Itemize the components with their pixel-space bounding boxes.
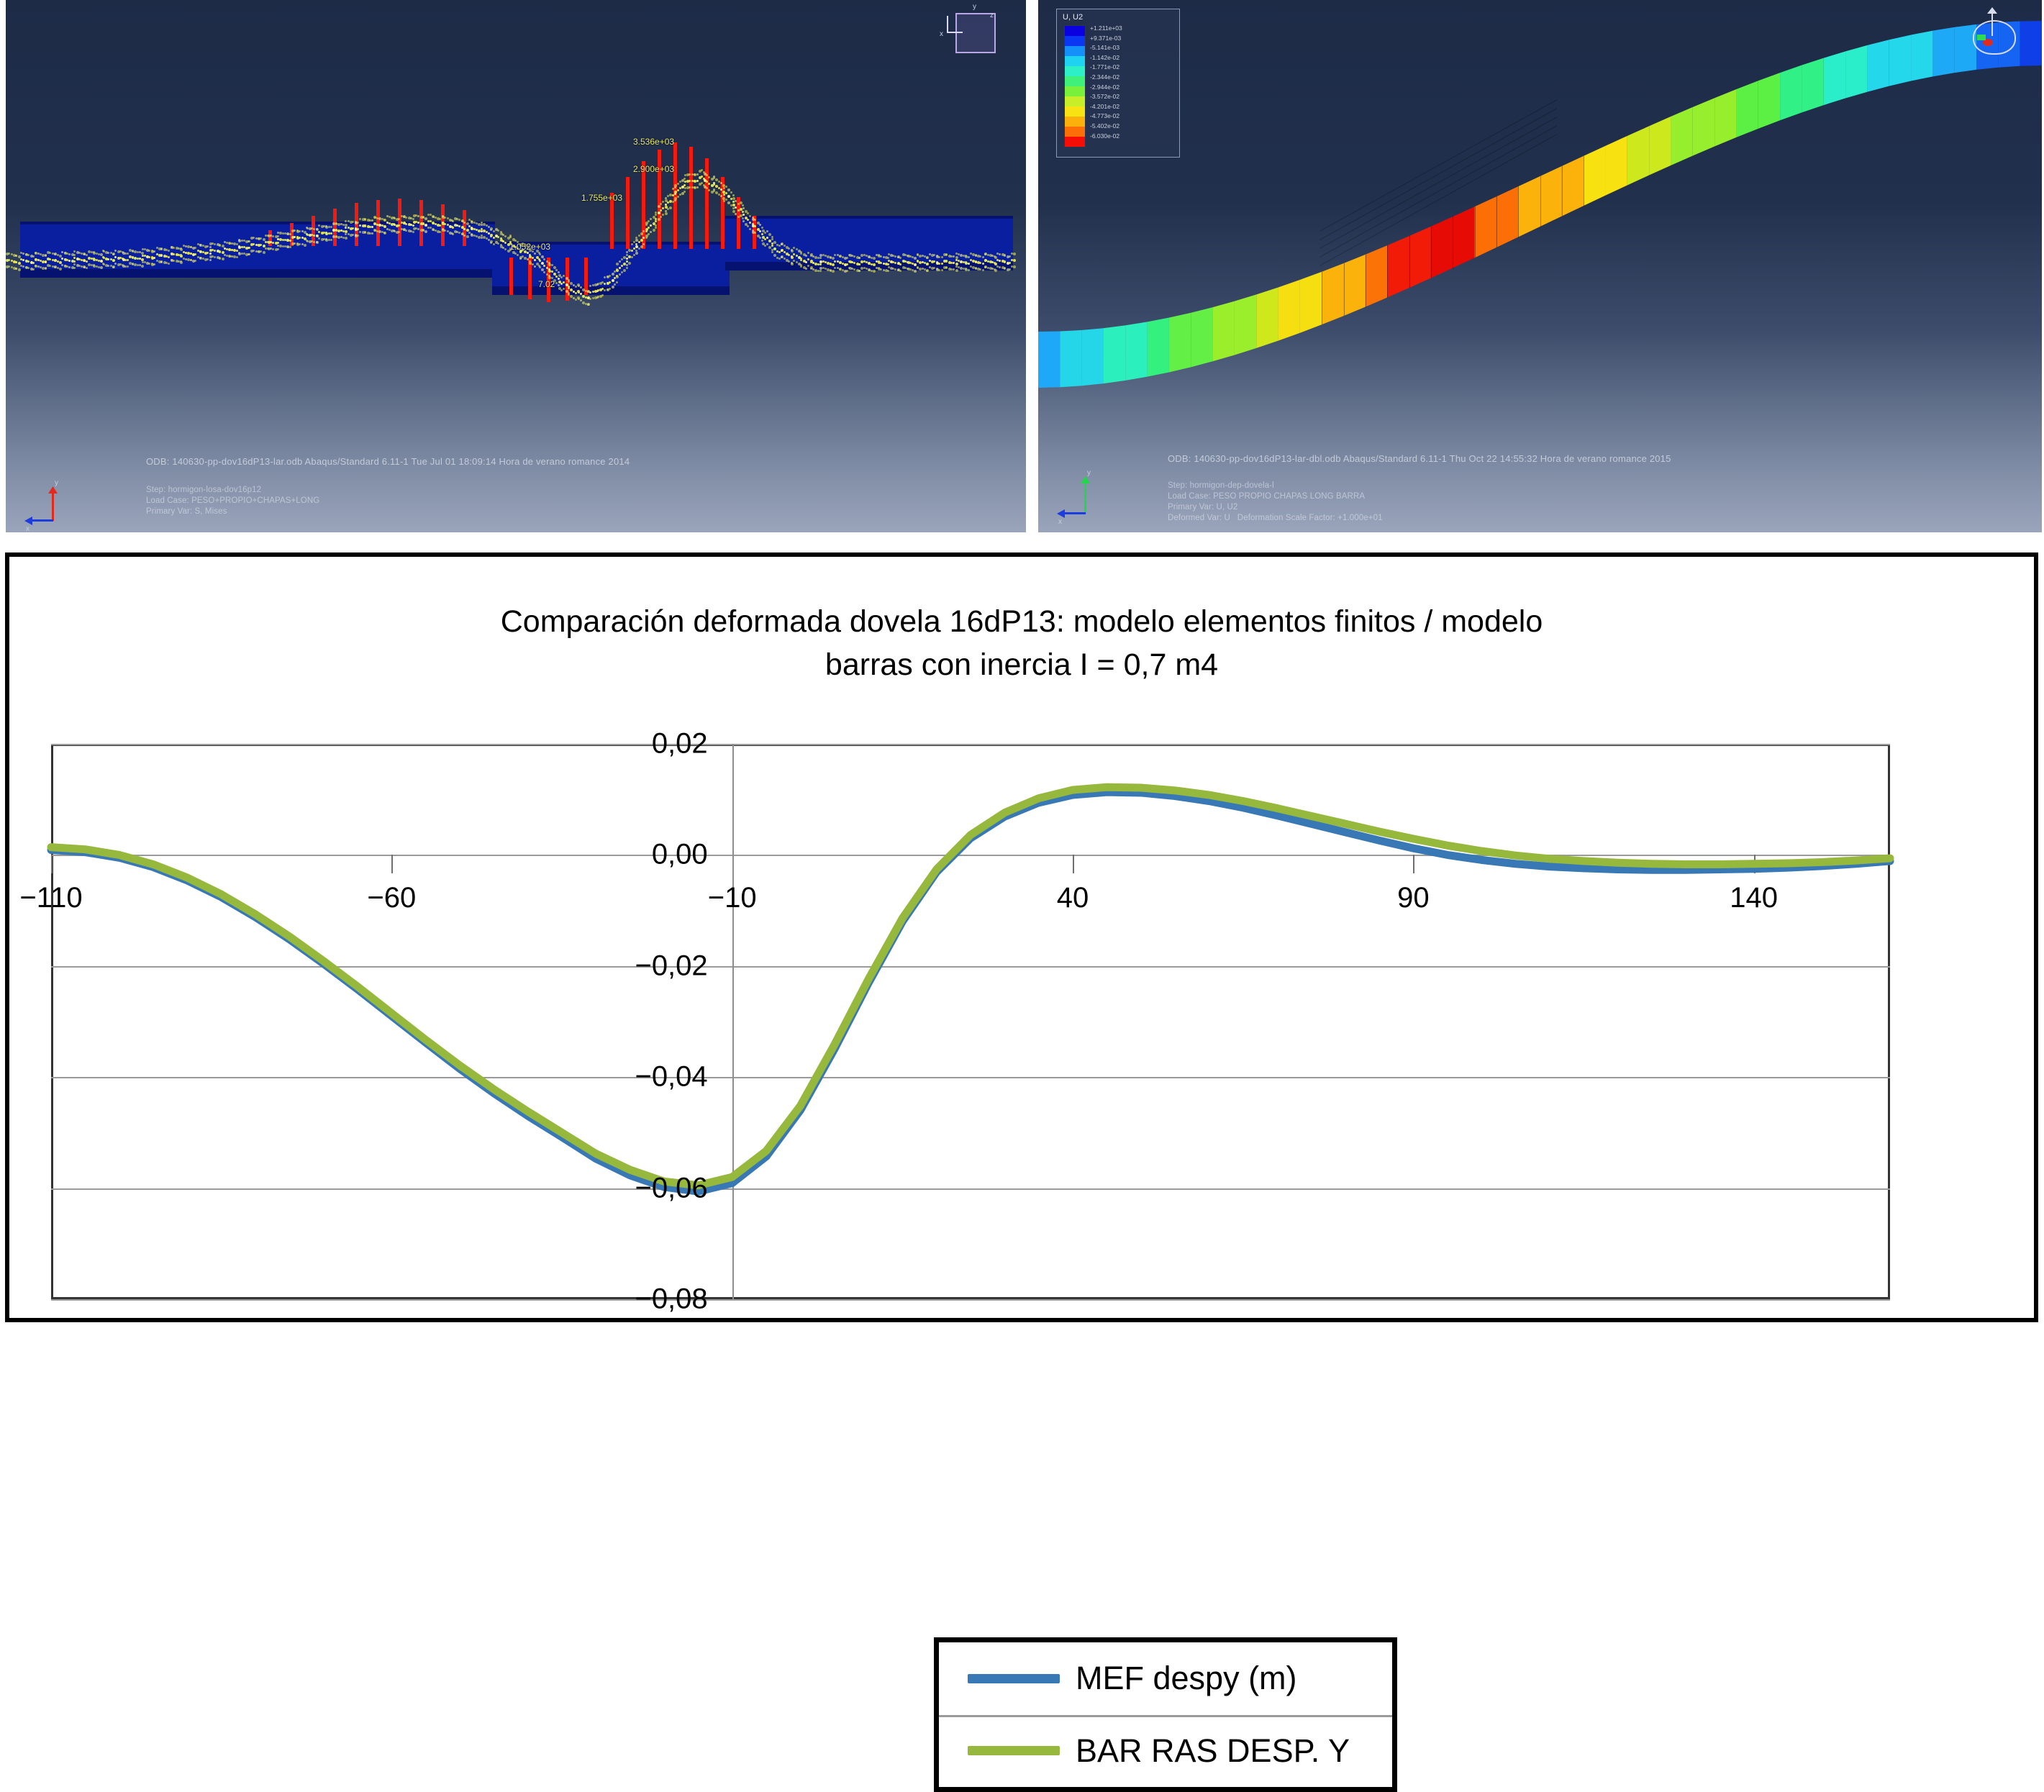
- node-dot: [601, 294, 604, 296]
- node-dot: [725, 192, 727, 194]
- node-dot: [955, 269, 958, 272]
- node-dot: [858, 270, 860, 272]
- node-dot: [662, 214, 664, 216]
- node-dot: [660, 209, 662, 212]
- mesh-line: [1496, 196, 1497, 247]
- node-dot: [899, 270, 901, 272]
- node-dot: [640, 239, 643, 242]
- node-dot: [452, 233, 454, 235]
- node-dot: [968, 263, 970, 265]
- node-dot: [648, 227, 650, 229]
- node-dot: [32, 262, 35, 264]
- node-dot: [589, 298, 591, 300]
- node-dot: [222, 258, 224, 260]
- node-dot: [696, 180, 699, 182]
- node-dot: [548, 275, 550, 277]
- mesh-line: [1409, 236, 1410, 288]
- node-dot: [619, 260, 621, 263]
- node-dot: [504, 235, 507, 237]
- node-dot: [466, 229, 469, 232]
- node-dot: [532, 263, 534, 265]
- node-dot: [708, 176, 710, 178]
- node-dot: [8, 265, 10, 268]
- y-axis-tick-label: −0,06: [635, 1172, 707, 1204]
- node-dot: [742, 214, 745, 216]
- node-dot: [548, 268, 550, 270]
- deformed-beam-graphic: 3.536e+03 2.900e+03 1.755e+03 1.052e+03 …: [6, 108, 1026, 345]
- node-dot: [725, 199, 727, 201]
- node-dot: [86, 267, 88, 269]
- node-dot: [539, 253, 541, 255]
- node-dot: [304, 244, 306, 247]
- node-dot: [364, 219, 366, 221]
- node-dot: [519, 258, 522, 260]
- gridline-horizontal: [51, 1299, 1890, 1301]
- node-dot: [732, 194, 735, 196]
- node-dot: [662, 201, 664, 203]
- node-dot: [631, 256, 633, 258]
- chart-legend: MEF despy (m) BAR RAS DESP. Y: [934, 1637, 1397, 1792]
- node-dot: [677, 183, 679, 185]
- node-dot: [45, 255, 47, 257]
- node-dot: [59, 268, 62, 270]
- node-dot: [638, 235, 640, 237]
- mesh-line: [1387, 245, 1388, 297]
- node-dot: [626, 267, 628, 269]
- legend-item-mef[interactable]: MEF despy (m): [939, 1642, 1392, 1715]
- mesh-line: [1431, 227, 1432, 278]
- node-dot: [655, 227, 657, 229]
- node-dot: [994, 269, 997, 272]
- node-dot: [534, 253, 536, 255]
- mesh-line: [1584, 156, 1584, 206]
- node-dot: [665, 212, 668, 215]
- triad-label-y: y: [1087, 469, 1091, 477]
- node-dot: [466, 222, 469, 225]
- coordinate-triad-icon: y x: [1063, 452, 1113, 502]
- viewport-footer-right: y x ODB: 140630-pp-dov16dP13-lar-dbl.odb…: [1038, 446, 2042, 532]
- node-dot: [752, 229, 754, 232]
- node-dot: [263, 251, 265, 254]
- node-dot: [708, 183, 710, 185]
- node-dot: [248, 240, 250, 242]
- node-dot: [723, 187, 725, 189]
- node-dot: [638, 241, 640, 243]
- node-dot: [846, 270, 848, 272]
- node-dot: [994, 263, 997, 265]
- node-dot: [619, 267, 621, 269]
- node-dot: [662, 207, 664, 209]
- node-dot: [730, 198, 732, 200]
- y-axis-tick-label: −0,08: [635, 1283, 707, 1316]
- node-dot: [655, 220, 657, 222]
- node-dot: [424, 217, 427, 220]
- fea-viewport-right: U, U2 +1.211e+03 +9.371e-03 -5.141e-03 -…: [1038, 0, 2042, 532]
- node-dot: [1013, 253, 1016, 255]
- odb-header-line: ODB: 140630-pp-dov16dP13-lar.odb Abaqus/…: [146, 456, 630, 467]
- node-dot: [626, 254, 628, 256]
- node-dot: [509, 236, 512, 238]
- series-curves: [51, 744, 1890, 1299]
- mesh-line: [1475, 206, 1476, 258]
- node-dot: [463, 222, 465, 224]
- node-dot: [551, 264, 553, 266]
- node-dot: [887, 270, 889, 272]
- cube-axis-label-x: x: [940, 30, 943, 38]
- value-label-4: 1.052e+03: [509, 242, 550, 252]
- node-dot: [497, 236, 499, 238]
- node-dot: [546, 273, 548, 276]
- node-dot: [771, 242, 773, 245]
- deformed-shell-ribbon: [1038, 0, 2042, 446]
- node-dot: [219, 245, 221, 247]
- node-dot: [742, 211, 744, 213]
- y-axis-tick-label: −0,02: [635, 950, 707, 982]
- node-dot: [463, 235, 465, 237]
- x-axis-tick-label: −110: [19, 882, 82, 914]
- node-dot: [209, 259, 212, 261]
- legend-swatch-line: [968, 1674, 1060, 1683]
- node-dot: [575, 299, 577, 301]
- node-dot: [45, 268, 47, 270]
- node-dot: [289, 233, 291, 235]
- node-dot: [914, 270, 917, 273]
- node-dot: [660, 203, 662, 205]
- node-dot: [832, 270, 835, 273]
- node-dot: [32, 268, 35, 270]
- node-dot: [173, 260, 175, 262]
- node-dot: [645, 235, 648, 237]
- coordinate-triad-icon: [1970, 7, 2020, 58]
- node-dot: [173, 253, 175, 255]
- mesh-line: [1366, 255, 1366, 307]
- node-dot: [18, 268, 21, 271]
- node-dot: [236, 250, 238, 252]
- coordinate-triad-icon: y x: [30, 456, 81, 506]
- node-dot: [112, 266, 114, 268]
- node-dot: [236, 256, 238, 258]
- series-line: [51, 792, 1890, 1191]
- node-dot: [8, 253, 10, 255]
- node-dot: [655, 218, 657, 220]
- node-dot: [968, 256, 970, 258]
- node-dot: [677, 196, 679, 198]
- node-dot: [655, 212, 657, 214]
- fea-viewport-left: x y z: [6, 0, 1026, 532]
- node-dot: [107, 258, 109, 260]
- x-axis-tick-label: 90: [1397, 882, 1430, 914]
- node-dot: [236, 243, 238, 245]
- node-dot: [655, 214, 657, 216]
- step-info-block: Step: hormigon-losa-dov16p12 Load Case: …: [146, 485, 319, 517]
- node-dot: [696, 173, 699, 176]
- node-dot: [209, 246, 212, 248]
- node-dot: [248, 247, 250, 249]
- axis-cube-icon: x y z: [955, 13, 996, 53]
- node-dot: [209, 253, 212, 255]
- node-dot: [725, 186, 727, 188]
- node-dot: [653, 229, 655, 232]
- node-dot: [8, 259, 10, 261]
- node-dot: [650, 218, 652, 220]
- mesh-line: [1344, 263, 1345, 316]
- legend-label: MEF despy (m): [1076, 1660, 1297, 1697]
- chart-title-line2: barras con inercia I = 0,7 m4: [9, 643, 2034, 686]
- node-dot: [534, 259, 536, 261]
- node-dot: [107, 265, 109, 267]
- x-axis-tick-label: 40: [1057, 882, 1089, 914]
- node-dot: [631, 250, 633, 252]
- node-dot: [466, 235, 469, 238]
- node-dot: [539, 266, 541, 268]
- node-dot: [619, 273, 621, 276]
- node-dot: [640, 232, 643, 235]
- node-dot: [994, 256, 997, 259]
- node-dot: [752, 217, 754, 219]
- value-label-2: 2.900e+03: [633, 164, 674, 174]
- node-dot: [539, 260, 541, 262]
- legend-label: BAR RAS DESP. Y: [1076, 1732, 1350, 1770]
- node-dot: [45, 261, 47, 263]
- node-dot: [650, 224, 652, 227]
- node-dot: [219, 251, 221, 253]
- node-dot: [640, 245, 643, 248]
- node-dot: [546, 260, 548, 263]
- node-dot: [463, 228, 465, 230]
- node-dot: [660, 216, 662, 218]
- node-dot: [532, 257, 534, 259]
- node-dot: [648, 220, 650, 222]
- node-dot: [696, 186, 699, 188]
- y-axis-tick-label: 0,00: [652, 839, 708, 871]
- node-dot: [444, 217, 446, 219]
- series-line: [51, 787, 1890, 1186]
- node-dot: [650, 231, 652, 233]
- node-dot: [112, 260, 114, 262]
- value-label-3: 1.755e+03: [581, 193, 622, 203]
- node-dot: [1013, 259, 1016, 262]
- node-dot: [747, 212, 749, 214]
- node-dot: [635, 237, 637, 239]
- node-dot: [982, 263, 984, 265]
- value-label-1: 3.536e+03: [633, 137, 674, 147]
- mesh-line: [1540, 176, 1541, 227]
- x-axis-tick-label: −60: [367, 882, 416, 914]
- node-dot: [497, 229, 499, 232]
- y-axis-tick-label: −0,04: [635, 1061, 707, 1093]
- node-dot: [683, 191, 686, 193]
- triad-label-y: y: [55, 479, 58, 487]
- node-dot: [638, 247, 640, 250]
- node-dot: [546, 267, 548, 269]
- x-axis-tick-label: 140: [1730, 882, 1778, 914]
- node-dot: [819, 270, 822, 272]
- node-dot: [551, 270, 553, 273]
- node-dot: [771, 249, 773, 251]
- node-dot: [452, 220, 454, 222]
- value-label-5: 7.02: [538, 279, 555, 289]
- node-dot: [723, 200, 725, 202]
- legend-swatch-line: [968, 1746, 1060, 1755]
- node-dot: [938, 263, 940, 265]
- fea-screenshot-row: x y z: [0, 0, 2044, 536]
- node-dot: [732, 201, 735, 203]
- node-dot: [458, 219, 460, 221]
- cube-axis-label-y: y: [973, 3, 976, 11]
- mesh-line: [1322, 272, 1322, 324]
- node-dot: [771, 236, 773, 238]
- node-dot: [626, 260, 628, 263]
- node-dot: [587, 303, 590, 306]
- chart-panel: Comparación deformada dovela 16dP13: mod…: [5, 552, 2038, 1322]
- node-dot: [938, 269, 940, 271]
- node-dot: [968, 269, 970, 271]
- legend-item-barras[interactable]: BAR RAS DESP. Y: [939, 1715, 1392, 1788]
- node-dot: [953, 268, 955, 270]
- node-dot: [289, 246, 291, 248]
- node-dot: [658, 212, 660, 214]
- step-info-block: Step: hormigon-dep-dovela-l Load Case: P…: [1168, 481, 1383, 524]
- node-dot: [548, 262, 550, 264]
- node-dot: [677, 189, 679, 191]
- node-dot: [219, 258, 221, 260]
- node-dot: [655, 224, 657, 227]
- cube-axis-label-z: z: [990, 12, 994, 19]
- chart-title: Comparación deformada dovela 16dP13: mod…: [9, 600, 2034, 686]
- node-dot: [635, 252, 638, 255]
- mesh-line: [1562, 166, 1563, 217]
- node-dot: [665, 210, 667, 212]
- node-dot: [631, 243, 633, 245]
- node-dot: [86, 260, 88, 263]
- node-dot: [107, 252, 109, 254]
- node-dot: [730, 204, 732, 206]
- node-dot: [658, 205, 660, 208]
- node-dot: [534, 265, 536, 268]
- node-dot: [742, 220, 745, 222]
- odb-header-line: ODB: 140630-pp-dov16dP13-lar-dbl.odb Aba…: [1168, 453, 1671, 464]
- node-dot: [289, 240, 291, 242]
- node-dot: [730, 191, 732, 194]
- node-dot: [658, 218, 660, 221]
- node-dot: [248, 253, 250, 255]
- node-dot: [982, 269, 984, 271]
- node-dot: [648, 233, 650, 235]
- mesh-line: [1518, 186, 1519, 237]
- node-dot: [86, 254, 88, 256]
- node-dot: [412, 218, 414, 220]
- node-dot: [112, 253, 114, 255]
- viewport-footer-left: y x ODB: 140630-pp-dov16dP13-lar.odb Aba…: [6, 446, 1026, 532]
- node-dot: [732, 207, 735, 209]
- y-axis-tick-label: 0,02: [652, 728, 708, 760]
- triad-label-x: x: [26, 525, 29, 532]
- chart-title-line1: Comparación deformada dovela 16dP13: mod…: [9, 600, 2034, 643]
- node-dot: [873, 270, 876, 273]
- node-dot: [752, 223, 754, 225]
- node-dot: [452, 227, 454, 229]
- node-dot: [742, 207, 745, 209]
- mesh-line: [1453, 217, 1453, 268]
- node-dot: [742, 204, 744, 206]
- node-dot: [173, 247, 175, 249]
- node-dot: [1013, 265, 1016, 268]
- node-dot: [941, 269, 943, 271]
- node-dot: [938, 256, 940, 258]
- node-dot: [665, 204, 667, 206]
- node-dot: [32, 255, 35, 258]
- triad-label-x: x: [1058, 518, 1062, 526]
- node-dot: [645, 228, 648, 231]
- plot-area: [51, 744, 1890, 1299]
- node-dot: [645, 222, 648, 224]
- node-dot: [683, 184, 686, 186]
- node-dot: [359, 218, 361, 220]
- node-dot: [708, 189, 710, 191]
- node-dot: [683, 178, 686, 180]
- node-dot: [669, 206, 672, 209]
- x-axis-tick-label: −10: [708, 882, 757, 914]
- node-dot: [982, 256, 984, 258]
- node-dot: [723, 194, 725, 196]
- node-dot: [665, 197, 667, 199]
